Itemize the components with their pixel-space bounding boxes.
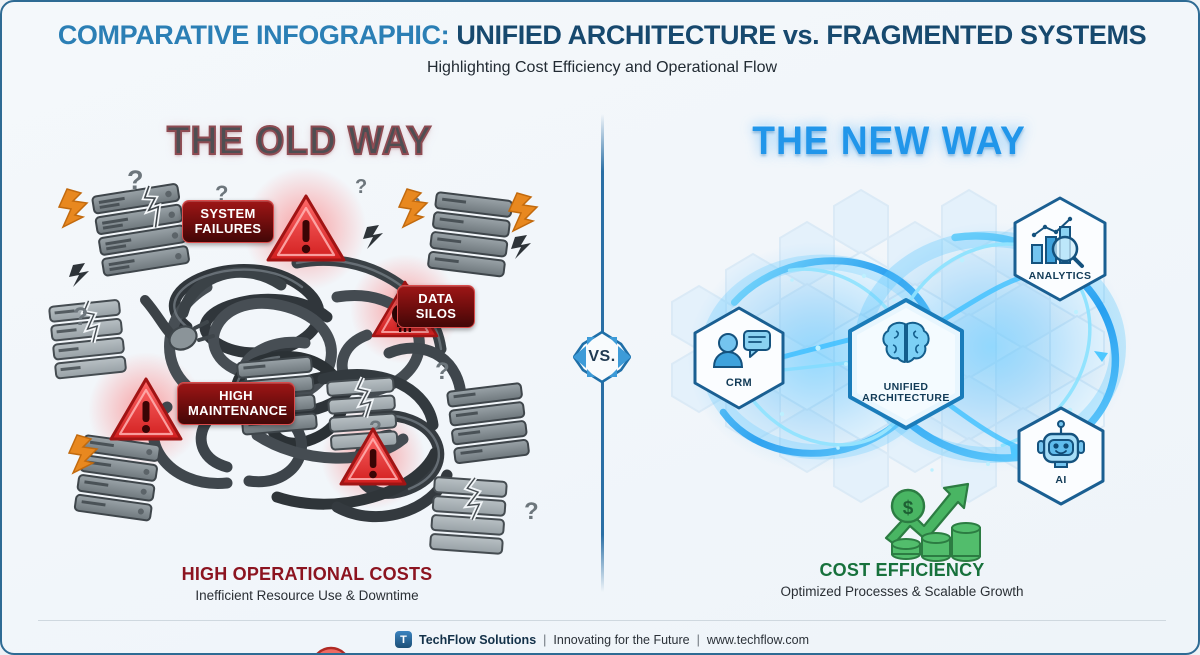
node-crm[interactable]: CRM bbox=[690, 305, 788, 411]
node-label-line-2: ARCHITECTURE bbox=[862, 392, 950, 404]
svg-text:$: $ bbox=[903, 498, 914, 519]
techflow-logo-icon: T bbox=[395, 631, 412, 648]
badge-system-failures: SYSTEM FAILURES bbox=[182, 200, 274, 243]
broken-server-rack-icon bbox=[92, 182, 190, 276]
node-label: ANALYTICS bbox=[1010, 271, 1110, 283]
badge-line-1: HIGH bbox=[188, 389, 284, 404]
node-unified-architecture[interactable]: UNIFIED ARCHITECTURE bbox=[844, 297, 968, 431]
svg-text:?: ? bbox=[355, 176, 367, 198]
ai-hexagon-icon bbox=[1014, 405, 1108, 507]
server-rack-icon bbox=[428, 192, 513, 277]
svg-text:?: ? bbox=[127, 167, 144, 195]
warning-triangle-icon bbox=[264, 192, 348, 266]
title-main-part: UNIFIED ARCHITECTURE vs. FRAGMENTED SYST… bbox=[456, 20, 1146, 50]
node-label: AI bbox=[1014, 475, 1108, 487]
caption-subtitle: Inefficient Resource Use & Downtime bbox=[37, 588, 577, 603]
new-way-panel: CRM UNIFIED ARCHITECTURE bbox=[632, 152, 1177, 572]
badge-data-silos: DATA SILOS bbox=[397, 285, 475, 328]
footer-divider bbox=[38, 620, 1166, 621]
badge-line-1: SYSTEM bbox=[193, 207, 263, 222]
vs-label: VS. bbox=[573, 328, 631, 386]
svg-text:?: ? bbox=[73, 303, 88, 331]
warning-triangle-icon bbox=[337, 425, 409, 489]
growth-arrow-coins-icon: $ bbox=[884, 482, 994, 566]
analytics-hexagon-icon bbox=[1010, 195, 1110, 303]
infographic-canvas: COMPARATIVE INFOGRAPHIC: UNIFIED ARCHITE… bbox=[0, 0, 1200, 655]
old-way-heading: THE OLD WAY bbox=[167, 119, 432, 164]
footer-brand: TechFlow Solutions bbox=[419, 633, 536, 647]
caption-title: HIGH OPERATIONAL COSTS bbox=[37, 564, 577, 585]
svg-text:?: ? bbox=[435, 358, 450, 385]
caption-subtitle: Optimized Processes & Scalable Growth bbox=[632, 584, 1172, 599]
badge-high-maintenance: HIGH MAINTENANCE bbox=[177, 382, 295, 425]
header: COMPARATIVE INFOGRAPHIC: UNIFIED ARCHITE… bbox=[2, 20, 1200, 77]
server-rack-icon bbox=[447, 383, 529, 463]
footer-separator: | bbox=[697, 633, 700, 647]
old-way-caption: HIGH OPERATIONAL COSTS Inefficient Resou… bbox=[37, 564, 577, 603]
badge-line-2: FAILURES bbox=[193, 222, 263, 237]
caption-title: COST EFFICIENCY bbox=[632, 560, 1172, 581]
unified-architecture-hexagon-icon bbox=[844, 297, 968, 431]
title-accent-part: COMPARATIVE INFOGRAPHIC: bbox=[58, 20, 449, 50]
old-way-panel: ? ? ? ? ? ? ? ? ? bbox=[37, 167, 577, 567]
page-subtitle: Highlighting Cost Efficiency and Operati… bbox=[2, 59, 1200, 77]
node-label: CRM bbox=[690, 377, 788, 389]
svg-text:?: ? bbox=[524, 498, 539, 525]
broken-server-rack-icon bbox=[430, 475, 507, 554]
warning-triangle-icon bbox=[107, 375, 185, 445]
badge-line-2: SILOS bbox=[408, 307, 464, 322]
node-label-line-1: UNIFIED bbox=[884, 381, 929, 393]
node-analytics[interactable]: ANALYTICS bbox=[1010, 195, 1110, 303]
badge-line-2: MAINTENANCE bbox=[188, 404, 284, 419]
vs-badge: VS. bbox=[573, 328, 631, 386]
footer-separator: | bbox=[543, 633, 546, 647]
badge-line-1: DATA bbox=[408, 292, 464, 307]
node-ai[interactable]: AI bbox=[1014, 405, 1108, 507]
brain-icon bbox=[883, 323, 928, 362]
node-label: UNIFIED ARCHITECTURE bbox=[844, 382, 968, 405]
footer-tagline: Innovating for the Future bbox=[553, 633, 689, 647]
footer-website[interactable]: www.techflow.com bbox=[707, 633, 809, 647]
footer: T TechFlow Solutions | Innovating for th… bbox=[2, 631, 1200, 648]
new-way-caption: COST EFFICIENCY Optimized Processes & Sc… bbox=[632, 560, 1172, 599]
crm-hexagon-icon bbox=[690, 305, 788, 411]
page-title: COMPARATIVE INFOGRAPHIC: UNIFIED ARCHITE… bbox=[2, 20, 1200, 51]
